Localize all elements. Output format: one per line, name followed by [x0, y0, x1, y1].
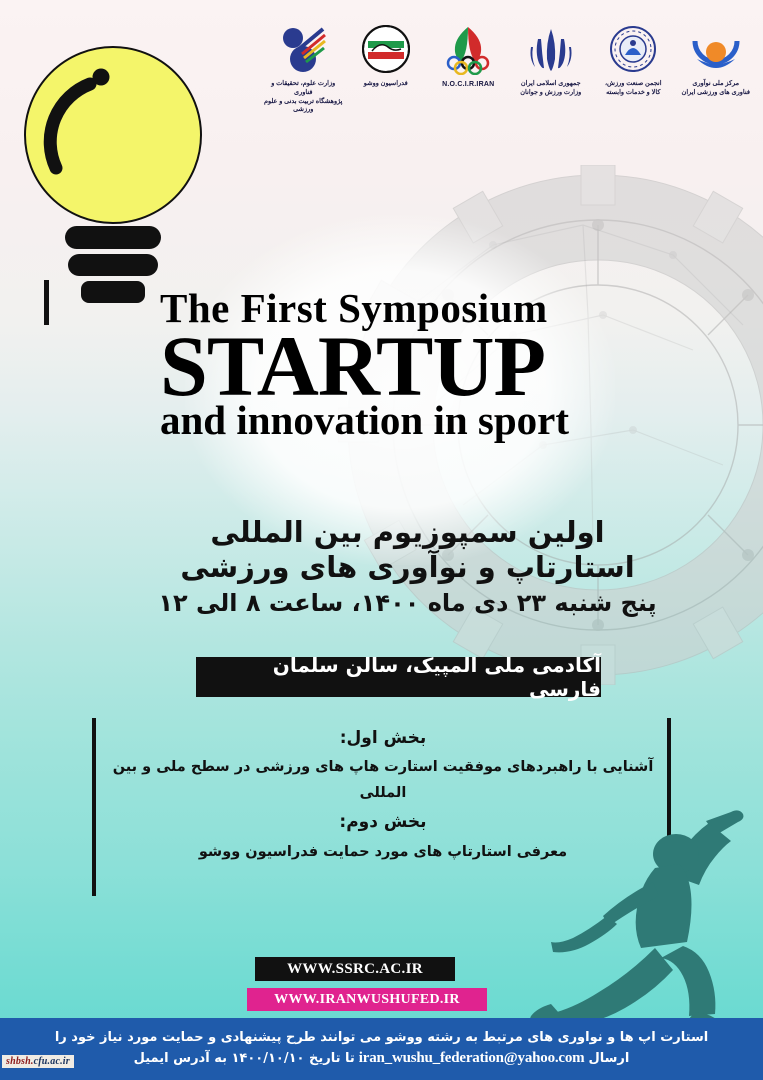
- logo-caption: وزارت علوم، تحقیقات و فناوری پژوهشگاه تر…: [262, 80, 345, 115]
- venue-banner: آکادمی ملی المپیک، سالن سلمان فارسی: [196, 657, 601, 697]
- logo-item: وزارت علوم، تحقیقات و فناوری پژوهشگاه تر…: [262, 22, 345, 115]
- english-title: The First Symposium STARTUP and innovati…: [160, 288, 705, 441]
- logo-caption: مرکز ملی نوآوری فناوری های ورزشی ایران: [682, 80, 750, 98]
- footer-line2: ارسالiran_wushu_federation@yahoo.comتا ت…: [134, 1048, 630, 1069]
- watermark-part2: cfu.ac.ir: [34, 1056, 70, 1067]
- footer-banner: استارت اپ ها و نواوری های مرتبط به رشته …: [0, 1018, 763, 1080]
- logo-caption: فدراسیون ووشو: [364, 80, 408, 89]
- persian-title: اولین سمپوزیوم بین المللی استارتاپ و نوآ…: [120, 515, 695, 619]
- national-sport-innovation-center-logo: [690, 22, 742, 78]
- section-title: بخش اول:: [98, 722, 668, 754]
- event-datetime: پنج شنبه ۲۳ دی ماه ۱۴۰۰، ساعت ۸ الی ۱۲: [120, 588, 695, 619]
- persian-title-line1: اولین سمپوزیوم بین المللی: [120, 515, 695, 550]
- logo-item: انجمن صنعت ورزش، کالا و خدمات وابسته: [592, 22, 675, 98]
- divider-bar-left: [92, 718, 96, 896]
- logo-item: مرکز ملی نوآوری فناوری های ورزشی ایران: [675, 22, 758, 98]
- ministry-sport-youth-logo: [527, 22, 575, 78]
- footer-line1: استارت اپ ها و نواوری های مرتبط به رشته …: [55, 1029, 708, 1047]
- persian-title-line2: استارتاپ و نوآوری های ورزشی: [120, 550, 695, 585]
- english-title-line3: and innovation in sport: [160, 400, 705, 441]
- site-watermark: shbsh.cfu.ac.ir: [2, 1055, 74, 1068]
- url-secondary[interactable]: WWW.IRANWUSHUFED.IR: [247, 988, 487, 1011]
- wushu-federation-iran-logo: [362, 22, 410, 78]
- english-title-line2: STARTUP: [160, 327, 705, 406]
- logo-item: جمهوری اسلامی ایران وزارت ورزش و جوانان: [510, 22, 593, 98]
- section-text: معرفی استارتاپ های مورد حمایت فدراسیون و…: [98, 839, 668, 865]
- poster-canvas: وزارت علوم، تحقیقات و فناوری پژوهشگاه تر…: [0, 0, 763, 1080]
- watermark-part1: shbsh.: [6, 1056, 34, 1067]
- section-text: آشنایی با راهبردهای موفقیت استارت هاپ ها…: [98, 754, 668, 806]
- sponsor-logo-strip: وزارت علوم، تحقیقات و فناوری پژوهشگاه تر…: [262, 22, 757, 142]
- lightbulb-icon: [18, 40, 208, 325]
- logo-caption: انجمن صنعت ورزش، کالا و خدمات وابسته: [605, 80, 662, 98]
- logo-caption: N.O.C.I.R.IRAN: [442, 80, 494, 89]
- footer-line2-suffix: ارسال: [588, 1051, 629, 1066]
- logo-item: N.O.C.I.R.IRAN: [427, 22, 510, 89]
- ministry-science-runner-logo: [279, 22, 327, 78]
- footer-line2-prefix: تا تاریخ ۱۴۰۰/۱۰/۱۰ به آدرس ایمیل: [134, 1051, 355, 1066]
- contact-email[interactable]: iran_wushu_federation@yahoo.com: [355, 1048, 589, 1069]
- url-primary[interactable]: WWW.SSRC.AC.IR: [255, 957, 455, 981]
- section-title: بخش دوم:: [98, 806, 668, 838]
- logo-caption: جمهوری اسلامی ایران وزارت ورزش و جوانان: [520, 80, 581, 98]
- sport-industry-association-logo: [609, 22, 657, 78]
- program-sections: بخش اول: آشنایی با راهبردهای موفقیت استا…: [98, 722, 668, 865]
- national-olympic-committee-logo: [442, 22, 494, 78]
- logo-item: فدراسیون ووشو: [345, 22, 428, 89]
